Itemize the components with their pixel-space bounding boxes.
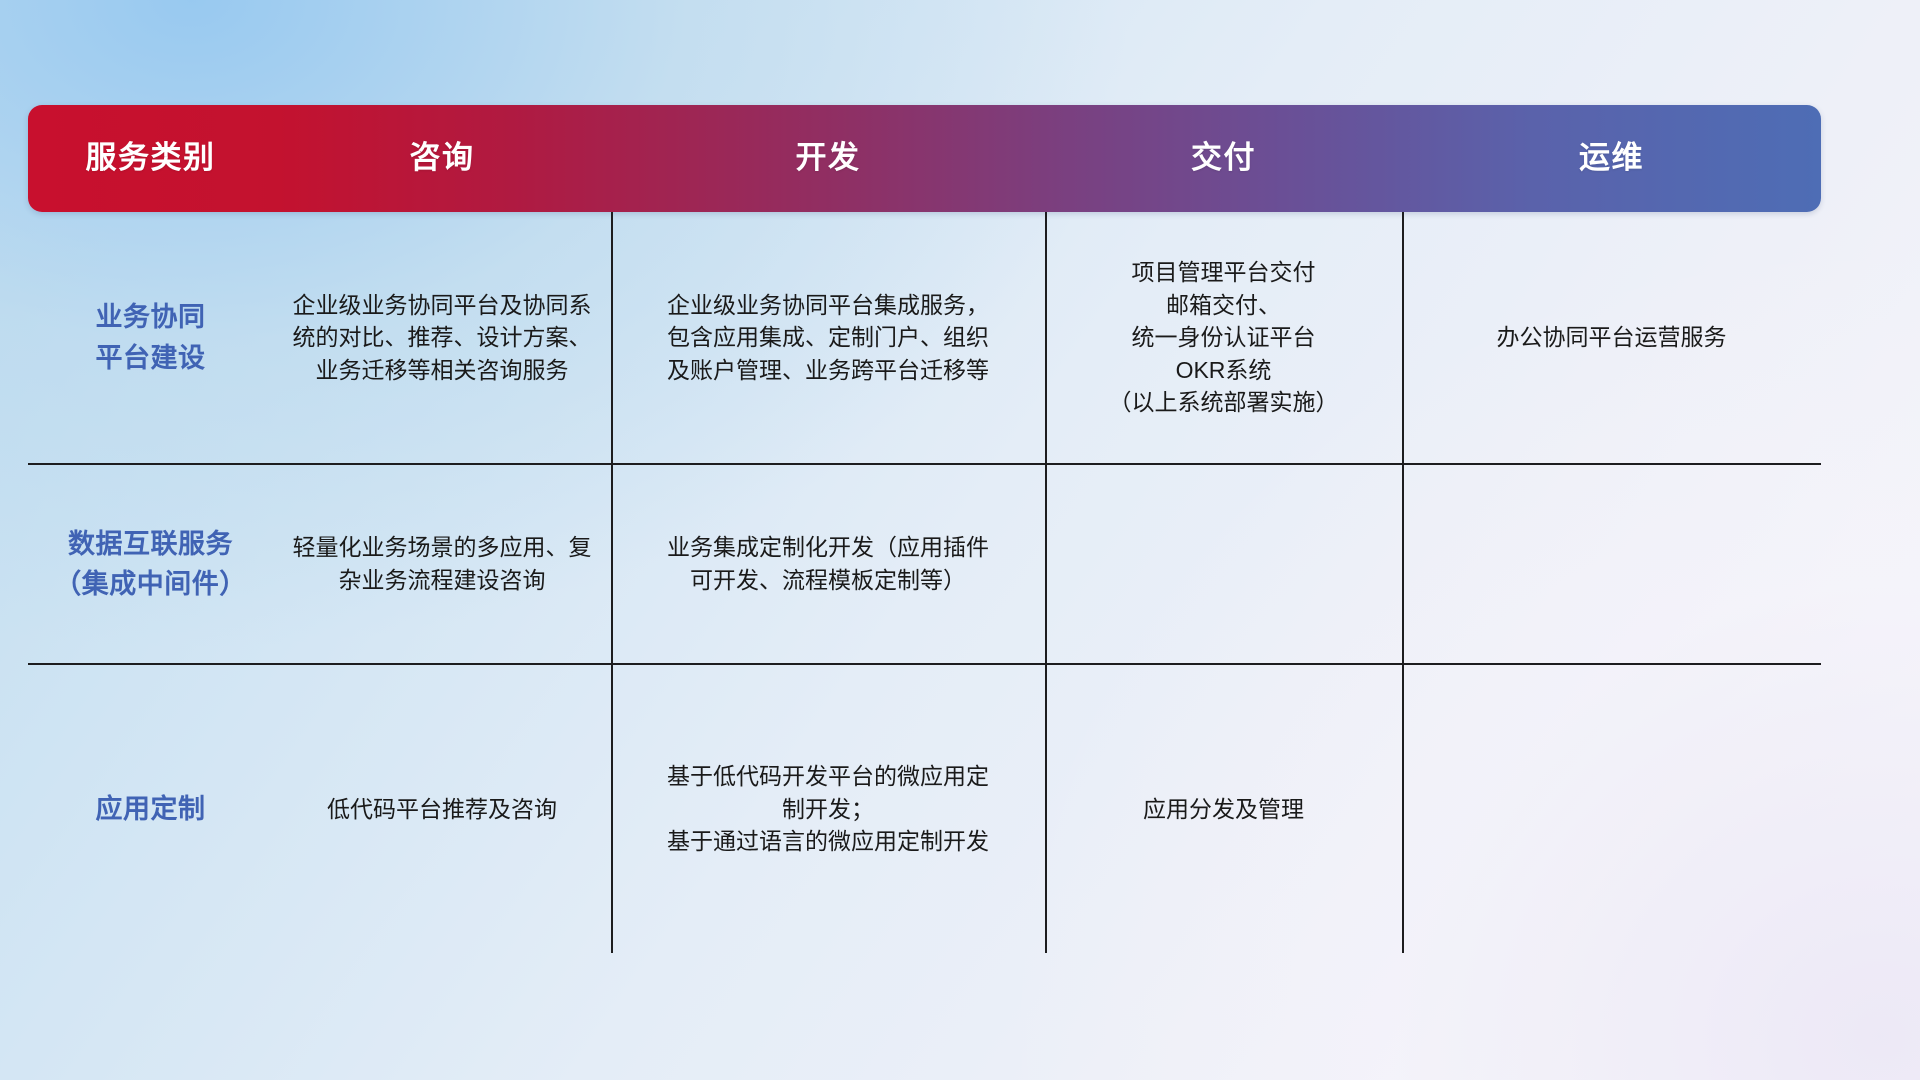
cell-category-2: 数据互联服务 （集成中间件） — [28, 465, 273, 663]
cell-consulting-1: 企业级业务协同平台及协同系 统的对比、推荐、设计方案、 业务迁移等相关咨询服务 — [273, 212, 611, 463]
table-body: 业务协同 平台建设 企业级业务协同平台及协同系 统的对比、推荐、设计方案、 业务… — [28, 212, 1821, 953]
table-row: 应用定制 低代码平台推荐及咨询 基于低代码开发平台的微应用定 制开发； 基于通过… — [28, 665, 1821, 953]
column-divider-4 — [1402, 212, 1404, 463]
service-matrix-table: 服务类别 咨询 开发 交付 运维 业务协同 平台建设 企业级业务协同平台及协同系… — [28, 105, 1821, 953]
cell-delivery-2 — [1045, 465, 1402, 663]
cell-operations-2 — [1402, 465, 1821, 663]
column-divider-3 — [1045, 465, 1047, 663]
cell-delivery-3: 应用分发及管理 — [1045, 665, 1402, 953]
column-header-consulting: 咨询 — [273, 141, 611, 175]
column-header-category: 服务类别 — [28, 141, 273, 175]
column-divider-4 — [1402, 665, 1404, 953]
column-divider-3 — [1045, 665, 1047, 953]
column-divider-2 — [611, 665, 613, 953]
column-divider-4 — [1402, 465, 1404, 663]
column-divider-2 — [611, 465, 613, 663]
column-divider-2 — [611, 212, 613, 463]
cell-development-2: 业务集成定制化开发（应用插件 可开发、流程模板定制等） — [611, 465, 1045, 663]
table-header-row: 服务类别 咨询 开发 交付 运维 — [28, 105, 1821, 212]
cell-development-3: 基于低代码开发平台的微应用定 制开发； 基于通过语言的微应用定制开发 — [611, 665, 1045, 953]
table-row: 业务协同 平台建设 企业级业务协同平台及协同系 统的对比、推荐、设计方案、 业务… — [28, 212, 1821, 465]
cell-development-1: 企业级业务协同平台集成服务， 包含应用集成、定制门户、组织 及账户管理、业务跨平… — [611, 212, 1045, 463]
column-divider-3 — [1045, 212, 1047, 463]
cell-delivery-1: 项目管理平台交付 邮箱交付、 统一身份认证平台 OKR系统 （以上系统部署实施） — [1045, 212, 1402, 463]
table-row: 数据互联服务 （集成中间件） 轻量化业务场景的多应用、复 杂业务流程建设咨询 业… — [28, 465, 1821, 665]
column-header-operations: 运维 — [1402, 141, 1821, 175]
cell-operations-1: 办公协同平台运营服务 — [1402, 212, 1821, 463]
slide-canvas: 服务类别 咨询 开发 交付 运维 业务协同 平台建设 企业级业务协同平台及协同系… — [0, 0, 1920, 1080]
cell-operations-3 — [1402, 665, 1821, 953]
column-header-delivery: 交付 — [1045, 141, 1402, 175]
column-header-development: 开发 — [611, 141, 1045, 175]
cell-consulting-3: 低代码平台推荐及咨询 — [273, 665, 611, 953]
cell-consulting-2: 轻量化业务场景的多应用、复 杂业务流程建设咨询 — [273, 465, 611, 663]
cell-category-3: 应用定制 — [28, 665, 273, 953]
cell-category-1: 业务协同 平台建设 — [28, 212, 273, 463]
